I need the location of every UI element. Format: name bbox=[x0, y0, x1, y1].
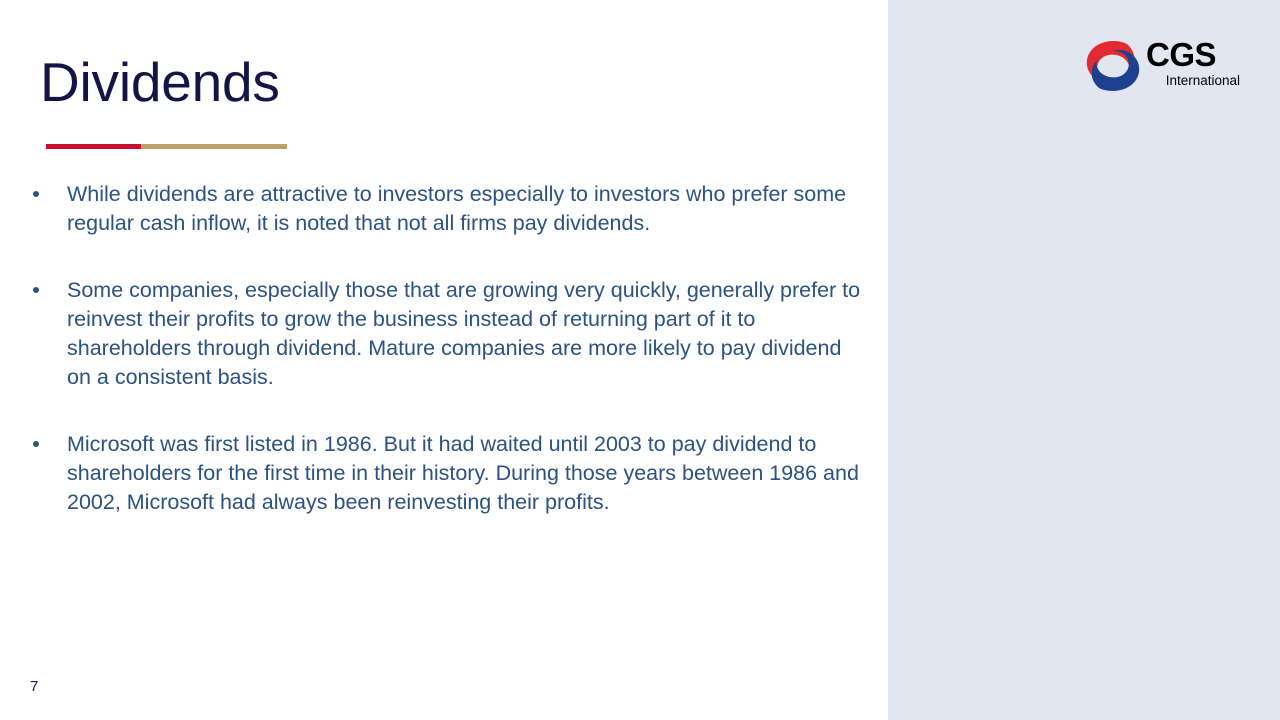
bullet-text: Microsoft was first listed in 1986. But … bbox=[67, 430, 866, 517]
divider-gold-segment bbox=[141, 144, 287, 149]
divider-red-segment bbox=[46, 144, 141, 149]
logo-secondary-text: International bbox=[1146, 73, 1240, 88]
cgs-swirl-icon bbox=[1084, 40, 1142, 92]
logo-primary-text: CGS bbox=[1146, 38, 1236, 72]
title-divider-rule bbox=[46, 144, 287, 149]
list-item: Some companies, especially those that ar… bbox=[28, 276, 866, 392]
page-title: Dividends bbox=[40, 48, 280, 116]
logo-wordmark: CGS International bbox=[1146, 38, 1236, 88]
list-item: While dividends are attractive to invest… bbox=[28, 180, 866, 238]
slide: CGS International Dividends While divide… bbox=[0, 0, 1280, 720]
right-side-panel bbox=[888, 0, 1280, 720]
bullet-list: While dividends are attractive to invest… bbox=[28, 180, 866, 517]
bullet-dot-icon bbox=[33, 191, 39, 197]
bullet-dot-icon bbox=[33, 441, 39, 447]
bullet-text: Some companies, especially those that ar… bbox=[67, 276, 866, 392]
page-number: 7 bbox=[30, 678, 38, 696]
bullet-text: While dividends are attractive to invest… bbox=[67, 180, 866, 238]
cgs-international-logo: CGS International bbox=[1084, 38, 1236, 96]
bullet-dot-icon bbox=[33, 287, 39, 293]
list-item: Microsoft was first listed in 1986. But … bbox=[28, 430, 866, 517]
